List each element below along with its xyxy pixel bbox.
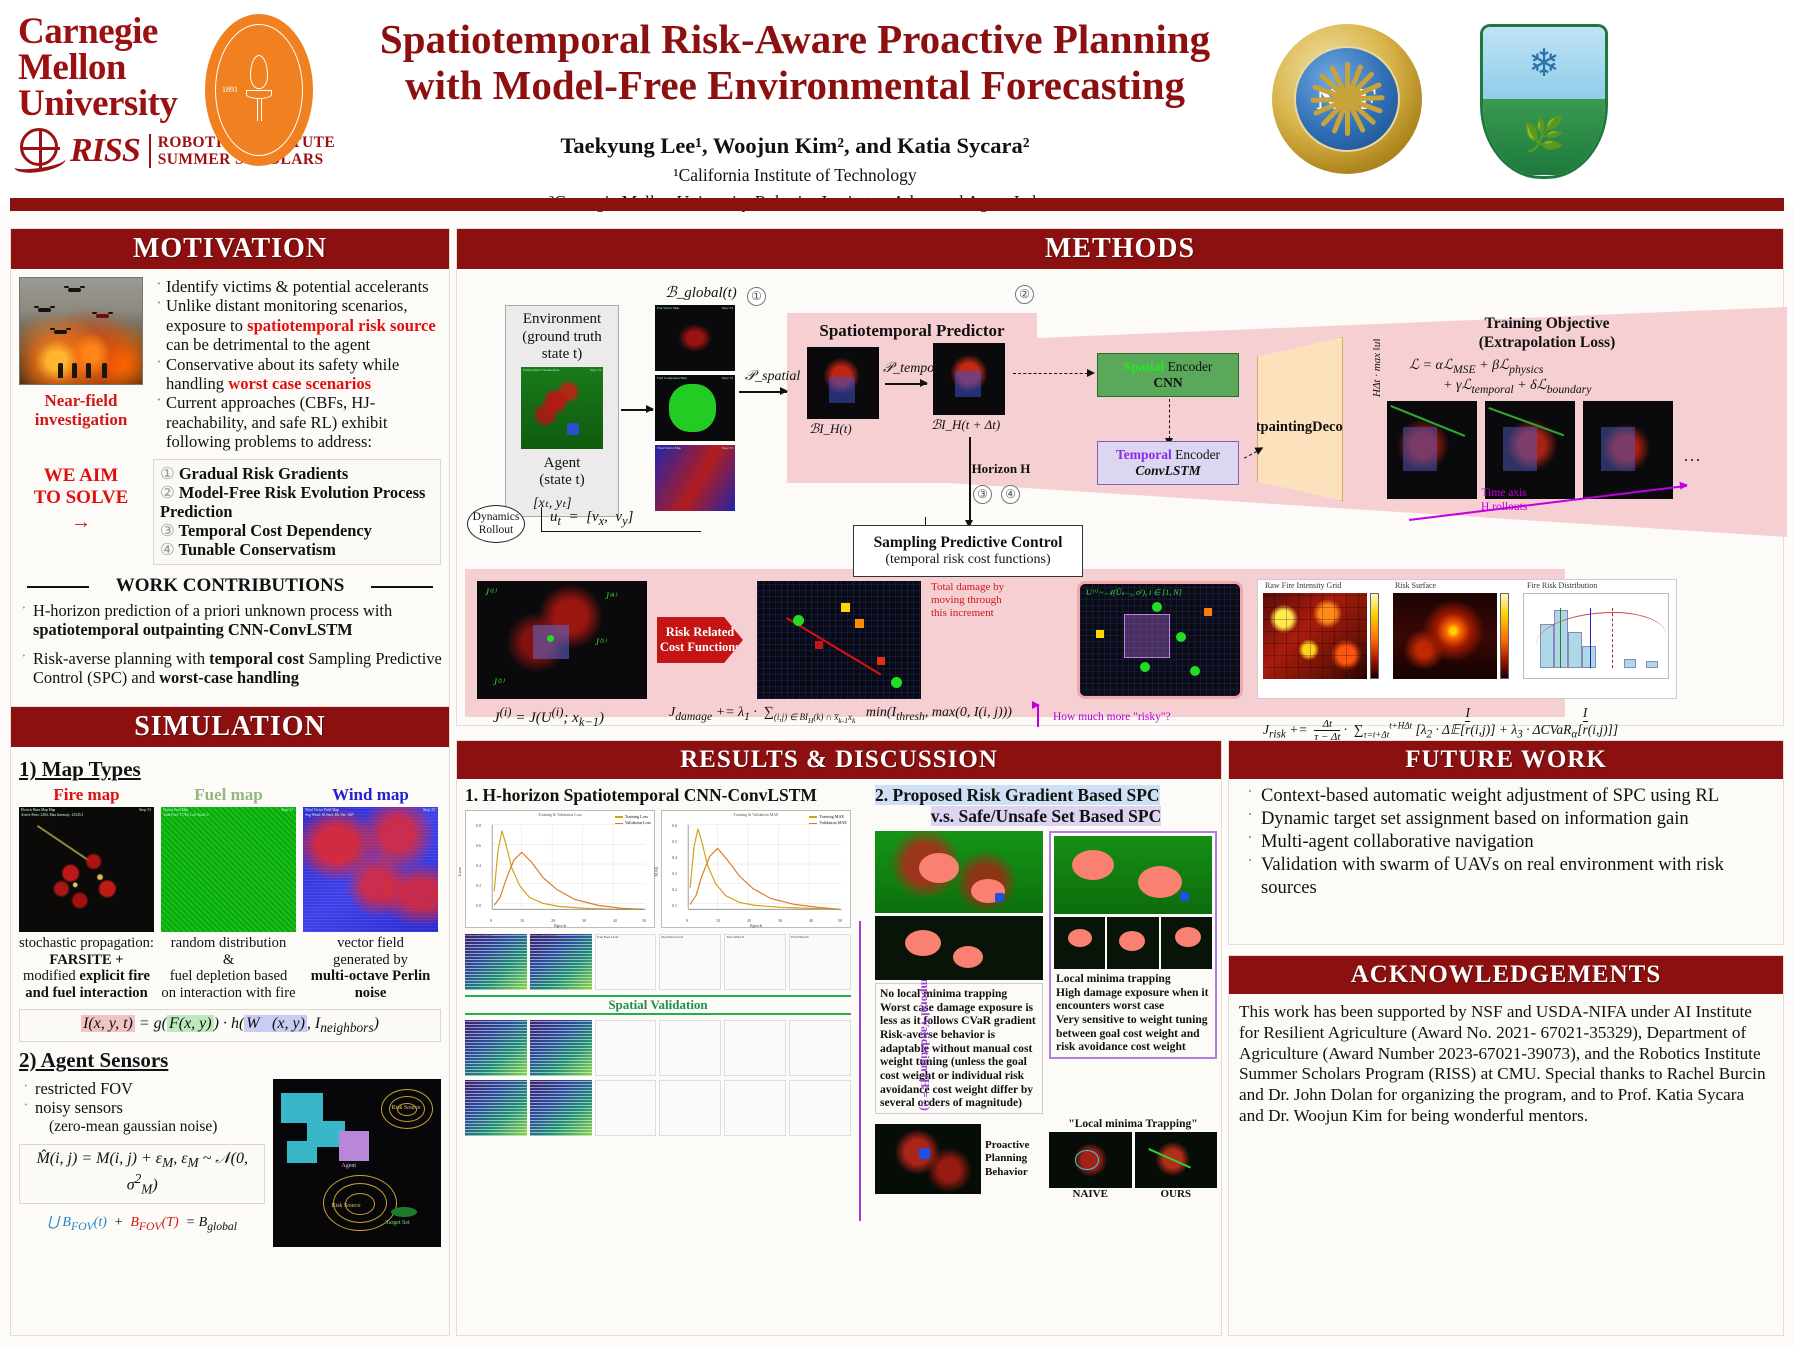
raw-grid-title: Raw Fire Intensity Grid	[1265, 581, 1341, 590]
validation-cell	[595, 1080, 657, 1136]
baseline-column: Local minima trapping High damage exposu…	[1049, 831, 1217, 1114]
cost-equation-J: J(i) = J(U(i); xk−1)	[493, 705, 604, 730]
future-work-heading: FUTURE WORK	[1229, 741, 1783, 779]
poster-title: Spatiotemporal Risk-Aware Proactive Plan…	[330, 16, 1260, 109]
validation-cell	[659, 1080, 721, 1136]
problems-box: ① Gradual Risk Gradients ② Model-Free Ri…	[153, 459, 441, 565]
temporal-validation-axis: Temporal Validation (H = 2)	[855, 921, 869, 1221]
poster-header: Carnegie Mellon University RISS ROBOTICS…	[0, 0, 1794, 205]
nsf-spikes	[1272, 24, 1422, 174]
arrow-predictor-to-spc	[969, 437, 971, 521]
results-heading: RESULTS & DISCUSSION	[457, 741, 1221, 779]
spc-box: Sampling Predictive Control (temporal ri…	[853, 525, 1083, 577]
risk-comparison-image: U⁽ⁱ⁾ ~ 𝒩(Ūₖ₋₁, σ²), i ∈ [1, N]	[1077, 581, 1243, 699]
motivation-bullet-2: Unlike distant monitoring scenarios, exp…	[153, 296, 441, 354]
baseline-image-box: Local minima trapping High damage exposu…	[1049, 831, 1217, 1059]
naive-label: NAIVE	[1049, 1188, 1132, 1200]
poster-title-line-2: with Model-Free Environmental Forecastin…	[330, 62, 1260, 108]
fuel-map-label: Fuel map	[161, 785, 296, 805]
fire-map-image: Electric Burn Map MapActive Fires: 2284,…	[19, 807, 154, 932]
risk-source-label-2: Risk Source	[331, 1203, 360, 1209]
motivation-bullets: Identify victims & potential accelerants…	[153, 277, 441, 452]
acknowledgements-body: This work has been supported by NSF and …	[1229, 994, 1783, 1135]
temporal-encoder-box: Temporal Encoder ConvLSTM	[1097, 441, 1239, 485]
local-minima-block: "Local minima Trapping" NAIVE	[1049, 1118, 1217, 1200]
belief-union-equation: ⋃ BFOV(t) + BFOV(T) = Bglobal	[19, 1214, 265, 1233]
fuel-map-image: Classic Fuel MapTotal Fuel: 77763, Left …	[161, 807, 296, 932]
validation-cell: True Fuel Level	[595, 934, 657, 990]
outpainting-decoder-box: OutpaintingDecoder	[1257, 337, 1343, 501]
sensor-item-2: noisy sensors	[19, 1098, 265, 1118]
acknowledgements-panel: ACKNOWLEDGEMENTS This work has been supp…	[1228, 955, 1784, 1336]
contribution-1: H-horizon prediction of a priori unknown…	[17, 601, 443, 639]
training-loss-equation-1: ℒ = αℒMSE + βℒphysics	[1409, 357, 1543, 376]
caltech-seal-inner: 1891	[215, 24, 303, 156]
methods-diagram: Environment(ground truthstate t) Environ…	[457, 269, 1783, 721]
risky-connector	[1037, 705, 1039, 727]
naive-block: NAIVE	[1049, 1132, 1132, 1200]
b-global-thumb-2: Fuel Component MapStep: 53	[655, 375, 735, 441]
trajectory-sampling-image: J⁽¹⁾ J⁽²⁾ J⁽³⁾ J⁽⁴⁾	[477, 581, 647, 699]
we-aim-to-solve-label: WE AIMTO SOLVE	[19, 465, 143, 509]
spatial-validation-label-wrap: Spatial Validation	[465, 995, 851, 1015]
training-objective-title: Training Objective(Extrapolation Loss)	[1397, 315, 1697, 352]
spatial-validation-label: Spatial Validation	[465, 997, 851, 1013]
training-loss-legend: Training Loss Validation Loss	[615, 814, 651, 827]
caltech-seal-logo: 1891	[205, 14, 313, 166]
validation-grid-row-3	[465, 1080, 851, 1136]
problem-item-4: ④ Tunable Conservatism	[160, 540, 434, 559]
h-axis-label: HΔt · max ‖u‖	[1371, 339, 1383, 397]
dynamics-rollout-node: DynamicsRollout	[467, 505, 525, 543]
cmu-logo-line-2: Mellon	[18, 50, 208, 86]
damage-equation: Jdamage += λ1 · ∑(i,j) ∈ BIH(k) ∩ x̅k-1x…	[669, 705, 1012, 725]
worst-case-scenarios-highlight: worst case scenarios	[228, 374, 371, 393]
motivation-image-caption: Near-fieldinvestigation	[19, 391, 143, 429]
cmu-logo: Carnegie Mellon University	[18, 14, 208, 122]
arrow-p-temporal	[885, 383, 927, 385]
future-work-item-4: Validation with swarm of UAVs on real en…	[1239, 854, 1773, 898]
environment-thumbnail: Environment VisualizationStep: 53	[521, 367, 603, 449]
bih-tdt-label: ℬI_H(t + Δt)	[931, 417, 1000, 433]
affiliation-1: ¹California Institute of Technology	[330, 164, 1260, 187]
local-minima-title: "Local minima Trapping"	[1049, 1118, 1217, 1130]
agent-box-label: Agent(state t)	[505, 455, 619, 489]
step-number-3: ③	[973, 485, 992, 504]
agent-sensors-subheading: 2) Agent Sensors	[19, 1048, 441, 1073]
validation-cell: True Fire Intensity	[465, 934, 527, 990]
spatial-encoder-box: Spatial Encoder CNN	[1097, 353, 1239, 397]
baseline-point-2: High damage exposure when it encounters …	[1056, 986, 1210, 1013]
sample-distribution-label: U⁽ⁱ⁾ ~ 𝒩(Ūₖ₋₁, σ²), i ∈ [1, N]	[1086, 588, 1182, 598]
traj-label-2: J⁽²⁾	[493, 677, 504, 688]
baseline-sim-row-2	[1054, 917, 1212, 969]
ours-block: OURS	[1135, 1132, 1218, 1200]
traj-label-3: J⁽³⁾	[595, 637, 606, 648]
validation-cell	[465, 1080, 527, 1136]
traj-label-1: J⁽¹⁾	[485, 587, 496, 598]
baseline-point-1: Local minima trapping	[1056, 972, 1210, 986]
ours-column: No local minima trapping Worst case dama…	[875, 831, 1043, 1114]
ours-sim-image-2	[875, 916, 1043, 980]
sensor-item-1: restricted FOV	[19, 1079, 265, 1099]
header-divider	[10, 198, 1784, 211]
training-loss-plot: Training & Validation Loss	[465, 810, 655, 928]
validation-cell: True Wind X	[724, 934, 786, 990]
target-set-label: Target Set	[385, 1220, 409, 1226]
author-list: Taekyung Lee¹, Woojun Kim², and Katia Sy…	[330, 133, 1260, 159]
horizon-label: Horizon H	[951, 461, 1051, 477]
fire-map-label: Fire map	[19, 785, 154, 805]
raw-fire-intensity-grid	[1263, 593, 1367, 679]
raw-grid-colorbar	[1370, 593, 1379, 679]
agent-sensors-left: restricted FOV noisy sensors (zero-mean …	[19, 1079, 265, 1247]
motivation-bullet-4: Current approaches (CBFs, HJ-reachabilit…	[153, 393, 441, 451]
methods-heading: METHODS	[457, 229, 1783, 269]
arrow-spatial-to-temporal	[1169, 399, 1170, 439]
problem-item-3: ③ Temporal Cost Dependency	[160, 521, 434, 540]
baseline-sim-image-1	[1054, 836, 1212, 914]
environment-label: Environment(ground truthstate t)	[505, 311, 619, 364]
validation-cell	[530, 1020, 592, 1076]
wind-map-label: Wind map	[303, 785, 438, 805]
step-number-2: ②	[1015, 285, 1034, 304]
problem-item-2: ② Model-Free Risk Evolution Process Pred…	[160, 483, 434, 521]
ours-point-2: Worst case damage exposure is less as it…	[880, 1001, 1038, 1028]
validation-cell: Pred Wind X	[789, 934, 851, 990]
baseline-discussion-box: Local minima trapping High damage exposu…	[1054, 969, 1212, 1054]
validation-cell	[659, 1020, 721, 1076]
validation-cell	[724, 1020, 786, 1076]
results-subtitle-1: 1. H-horizon Spatiotemporal CNN-ConvLSTM	[465, 785, 851, 806]
training-mae-plot: Training & Validation MAE	[661, 810, 851, 928]
step-number-1: ①	[747, 287, 766, 306]
motivation-panel: MOTIVATION Near-fieldinvestigation WE AI…	[10, 228, 450, 710]
fire-intensity-equation: I(x, y, t) = g(F(x, y)) · h(W⃗(x, y), In…	[19, 1009, 441, 1042]
caltech-year: 1891	[222, 85, 238, 94]
validation-cell: Pred Fire Intensity	[530, 934, 592, 990]
fire-map-description: stochastic propagation: FARSITE + modifi…	[19, 935, 154, 1002]
map-column-fire: Fire map Electric Burn Map MapActive Fir…	[19, 785, 154, 1002]
sensor-noise-note: (zero-mean gaussian noise)	[19, 1118, 265, 1136]
sensor-noise-equation: M̂(i, j) = M(i, j) + εM, εM ~ 𝒩(0, σ2M)	[19, 1144, 265, 1204]
p-spatial-label: 𝒫_spatial	[745, 369, 800, 385]
contribution-2: Risk-averse planning with temporal cost …	[17, 649, 443, 687]
future-work-item-2: Dynamic target set assignment based on i…	[1239, 808, 1773, 830]
problem-item-1: ① Gradual Risk Gradients	[160, 464, 434, 483]
risk-source-label-1: Risk Source	[391, 1105, 420, 1111]
rollout-thumb-3	[1583, 401, 1673, 499]
globe-icon	[14, 128, 66, 174]
cmu-logo-line-1: Carnegie	[18, 14, 208, 50]
risk-surface-image	[1393, 593, 1497, 679]
proactive-block: ProactivePlanningBehavior	[875, 1118, 1043, 1200]
future-work-item-1: Context-based automatic weight adjustmen…	[1239, 785, 1773, 807]
time-axis-label: Time axisH rollouts	[1481, 487, 1527, 515]
training-loss-equation-2: + γℒtemporal + δℒboundary	[1443, 377, 1591, 396]
usda-nifa-logo: ❄ 🌿	[1480, 24, 1608, 179]
poster-title-line-1: Spatiotemporal Risk-Aware Proactive Plan…	[330, 16, 1260, 62]
control-input-equation: ut = [vx, vy]	[541, 507, 701, 532]
training-mae-legend: Training MAE Validation MAE	[809, 814, 847, 827]
results-subtitle-2b: v.s. Safe/Unsafe Set Based SPC	[875, 806, 1217, 827]
torch-icon	[246, 55, 272, 125]
work-contributions-title: WORK CONTRIBUTIONS	[11, 575, 449, 597]
spatiotemporal-risk-source-highlight: spatiotemporal risk source	[247, 316, 436, 335]
traj-label-4: J⁽⁴⁾	[605, 591, 617, 602]
agent-label: Agent	[341, 1163, 356, 1169]
fire-risk-distribution-title: Fire Risk Distribution	[1527, 581, 1597, 590]
snowflake-icon: ❄	[1483, 27, 1605, 99]
future-work-item-3: Multi-agent collaborative navigation	[1239, 831, 1773, 853]
validation-grid-wrapper: True Fire Intensity Pred Fire Intensity …	[465, 934, 851, 1136]
motivation-bullet-1: Identify victims & potential accelerants	[153, 277, 441, 296]
b-global-thumb-1: Fire Vector MapStep: 53	[655, 305, 735, 371]
ours-point-3: Risk-averse behavior is adaptable withou…	[880, 1028, 1038, 1110]
future-work-list: Context-based automatic weight adjustmen…	[1229, 779, 1783, 906]
agent-fov-illustration: Agent Risk Source Risk Source Target Set	[273, 1079, 441, 1247]
fuel-map-description: random distribution & fuel depletion bas…	[161, 935, 296, 1002]
predictor-thumb-t	[807, 347, 879, 419]
motivation-right-column: Identify victims & potential accelerants…	[153, 277, 441, 565]
motivation-bullet-3: Conservative about its safety while hand…	[153, 355, 441, 394]
validation-cell	[724, 1080, 786, 1136]
map-column-wind: Wind map Wind Vector Field MapAvg Wind: …	[303, 785, 438, 1002]
map-types-subheading: 1) Map Types	[19, 757, 441, 782]
arrow-to-spatial-encoder	[1013, 373, 1093, 374]
validation-cell	[789, 1020, 851, 1076]
predictor-thumb-tdt	[933, 343, 1005, 415]
work-contributions-list: H-horizon prediction of a priori unknown…	[11, 601, 449, 687]
leaf-icon: 🌿	[1483, 99, 1605, 175]
naive-sim-image	[1049, 1132, 1132, 1188]
wildfire-drone-photo	[19, 277, 143, 385]
results-column-1: 1. H-horizon Spatiotemporal CNN-ConvLSTM…	[465, 785, 851, 1200]
validation-cell: Pred Fuel Level	[659, 934, 721, 990]
bih-t-label: ℬI_H(t)	[809, 421, 852, 437]
arrow-env-to-bglobal	[621, 409, 653, 411]
fire-risk-histogram	[1523, 593, 1669, 679]
ours-sim-image-1	[875, 831, 1043, 913]
rollout-thumb-2	[1485, 401, 1575, 499]
validation-cell	[465, 1020, 527, 1076]
motivation-heading: MOTIVATION	[11, 229, 449, 269]
validation-cell	[530, 1080, 592, 1136]
cmu-logo-line-3: University	[18, 86, 208, 122]
proactive-sim-image	[875, 1124, 981, 1194]
ours-discussion-box: No local minima trapping Worst case dama…	[875, 983, 1043, 1114]
step-number-4: ④	[1001, 485, 1020, 504]
arrow-bglobal-to-predictor	[739, 391, 787, 393]
methods-panel: METHODS Environment(ground truthstate t)…	[456, 228, 1784, 726]
wind-map-image: Wind Vector Field MapAvg Wind: 10.5m/s, …	[303, 807, 438, 932]
risk-surface-title: Risk Surface	[1395, 581, 1436, 590]
validation-grid-row-1: True Fire Intensity Pred Fire Intensity …	[465, 934, 851, 990]
ellipsis-icon: …	[1683, 445, 1701, 466]
ours-point-1: No local minima trapping	[880, 987, 1038, 1001]
map-column-fuel: Fuel map Classic Fuel MapTotal Fuel: 777…	[161, 785, 296, 1002]
risky-question-label: How much more "risky"?	[1053, 711, 1171, 723]
right-arrow-icon: →	[19, 511, 143, 534]
wind-map-description: vector field generated by multi-octave P…	[303, 935, 438, 1002]
motivation-left-column: Near-fieldinvestigation WE AIMTO SOLVE →	[19, 277, 143, 565]
nsf-logo: NSF	[1272, 24, 1422, 174]
rollout-thumb-1	[1387, 401, 1477, 499]
spatiotemporal-predictor-title: Spatiotemporal Predictor	[797, 321, 1027, 341]
temporal-validation-label: Temporal Validation (H = 2)	[918, 966, 933, 1110]
damage-note: Total damage bymoving throughthis increm…	[931, 581, 1004, 621]
risk-surface-colorbar	[1500, 593, 1509, 679]
map-types-row: Fire map Electric Burn Map MapActive Fir…	[19, 785, 441, 1002]
ours-label: OURS	[1135, 1188, 1218, 1200]
riss-wordmark: RISS	[70, 132, 140, 170]
damage-increment-image	[757, 581, 921, 699]
validation-cell	[789, 1080, 851, 1136]
simulation-heading: SIMULATION	[11, 707, 449, 747]
ours-sim-image-3	[1135, 1132, 1218, 1188]
validation-cell	[595, 1020, 657, 1076]
risk-equation: Jrisk += Δtτ − Δt · ∑τ=t+Δtt+HΔt [λ2 · Δ…	[1263, 705, 1618, 743]
results-panel: RESULTS & DISCUSSION 1. H-horizon Spatio…	[456, 740, 1222, 1336]
acknowledgements-heading: ACKNOWLEDGEMENTS	[1229, 956, 1783, 994]
b-global-label: ℬ_global(t)	[665, 283, 737, 302]
agent-sensor-list: restricted FOV noisy sensors	[19, 1079, 265, 1118]
proactive-label: ProactivePlanningBehavior	[985, 1139, 1029, 1179]
title-block: Spatiotemporal Risk-Aware Proactive Plan…	[330, 16, 1260, 214]
validation-grid-row-2	[465, 1020, 851, 1076]
b-global-thumb-3: Wind Vector MapStep: 53	[655, 445, 735, 511]
baseline-point-3: Very sensitive to weight tuning between …	[1056, 1013, 1210, 1054]
simulation-panel: SIMULATION 1) Map Types Fire map Electri…	[10, 706, 450, 1336]
results-subtitle-2a: 2. Proposed Risk Gradient Based SPC	[875, 785, 1217, 806]
future-work-panel: FUTURE WORK Context-based automatic weig…	[1228, 740, 1784, 945]
